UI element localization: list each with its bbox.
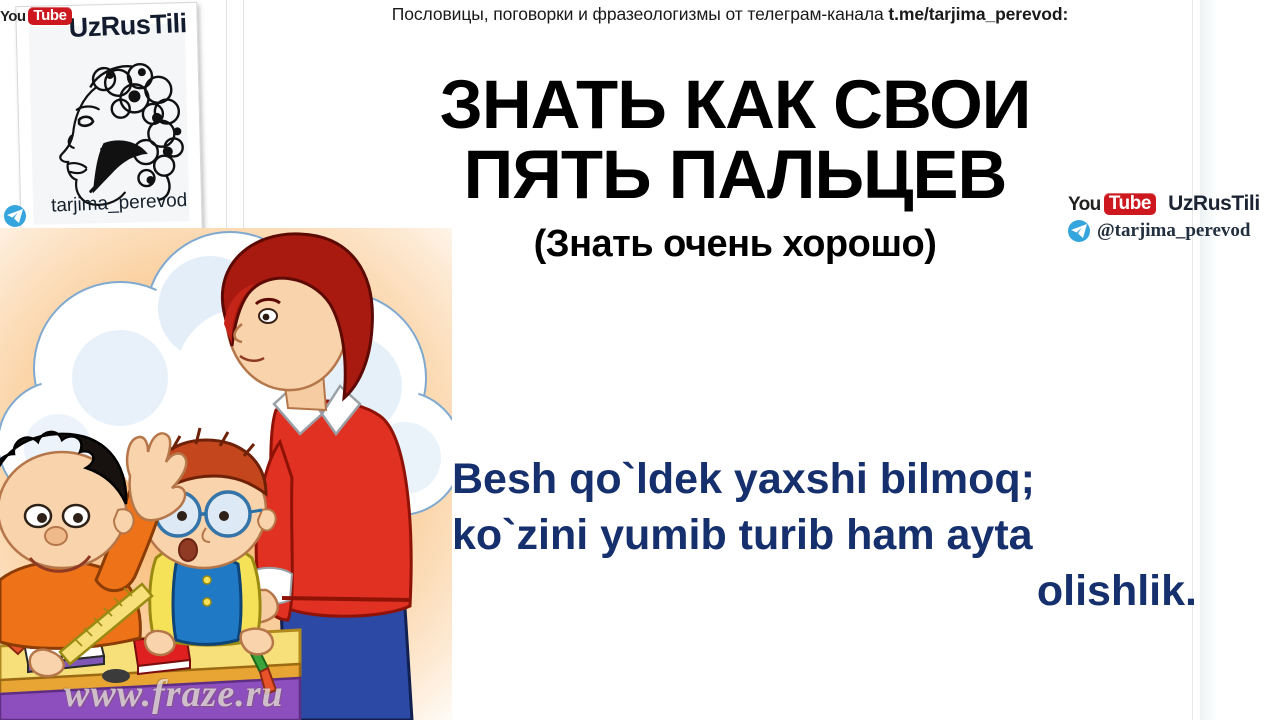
translation-text: Besh qo`ldek yaxshi bilmoq; ko`zini yumi… <box>452 452 1197 620</box>
telegram-icon <box>4 205 26 227</box>
channel-name-label: UzRusTili <box>68 8 187 44</box>
youtube-you-text: You <box>0 9 25 24</box>
youtube-tube-badge: Tube <box>1104 193 1156 215</box>
channel-logo-card: UzRusTili tarjima_perevod <box>15 2 203 236</box>
watermark-right-youtube-row: You Tube UzRusTili <box>1068 192 1260 216</box>
header-caption: Пословицы, поговорки и фразеологизмы от … <box>270 4 1190 25</box>
youtube-logo-top-left: You Tube <box>0 7 72 25</box>
title-line-1: ЗНАТЬ КАК СВОИ <box>300 70 1170 140</box>
youtube-you-text: You <box>1068 195 1101 214</box>
translation-line-1: Besh qo`ldek yaxshi bilmoq; <box>452 452 1197 508</box>
watermark-channel-name: UzRusTili <box>1168 192 1260 216</box>
illustration-artwork <box>0 228 452 720</box>
watermark-right-telegram-row: @tarjima_perevod <box>1068 220 1260 242</box>
paper-plane-glyph <box>1071 224 1087 238</box>
source-watermark: www.fraze.ru <box>64 672 284 716</box>
title-line-2: ПЯТЬ ПАЛЬЦЕВ <box>300 140 1170 210</box>
youtube-tube-badge: Tube <box>28 7 71 25</box>
slide-canvas: Пословицы, поговорки и фразеологизмы от … <box>0 0 1280 720</box>
title-subtitle: (Знать очень хорошо) <box>300 223 1170 266</box>
watermark-right: You Tube UzRusTili @tarjima_perevod <box>1068 192 1260 242</box>
paper-plane-glyph <box>7 209 23 223</box>
header-caption-plain: Пословицы, поговорки и фразеологизмы от … <box>392 4 889 24</box>
translation-line-3: olishlik. <box>452 564 1197 620</box>
header-caption-channel: t.me/tarjima_perevod: <box>888 4 1068 24</box>
telegram-icon-top-left <box>4 205 26 227</box>
slide-right-shade <box>1200 0 1218 720</box>
translation-line-2: ko`zini yumib turib ham ayta <box>452 508 1197 564</box>
title-block: ЗНАТЬ КАК СВОИ ПЯТЬ ПАЛЬЦЕВ (Знать очень… <box>300 70 1170 266</box>
watermark-telegram-handle: @tarjima_perevod <box>1097 220 1250 242</box>
telegram-icon <box>1068 220 1090 242</box>
illustration-classroom <box>0 228 452 720</box>
